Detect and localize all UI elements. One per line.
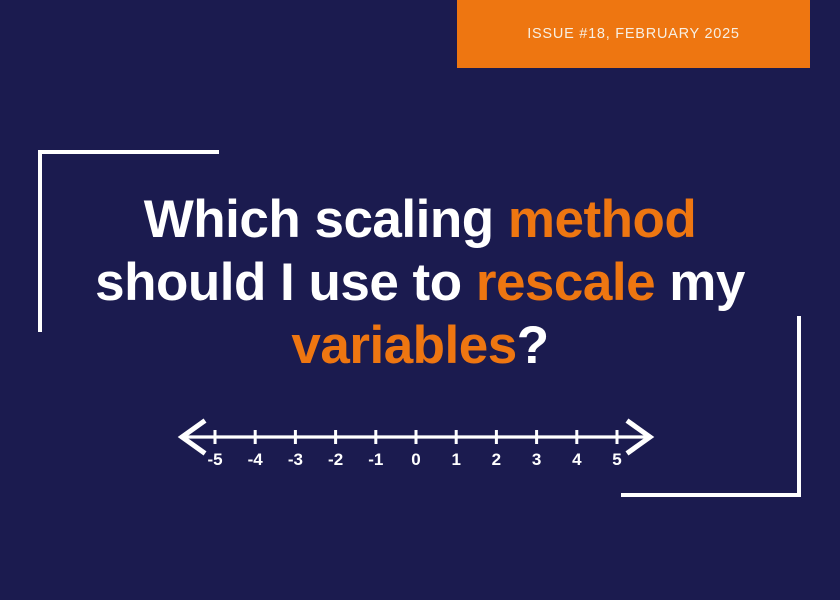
number-line-tick-label: 0 <box>411 450 420 469</box>
top-left-bracket-horizontal <box>38 150 219 154</box>
number-line-tick-label: -1 <box>368 450 383 469</box>
headline-line-2: should I use to rescale my <box>0 251 840 314</box>
headline-segment: Which scaling <box>144 190 508 249</box>
headline-segment-accent: method <box>508 190 696 249</box>
bottom-right-bracket-horizontal <box>621 493 801 497</box>
headline-segment-accent: variables <box>291 316 516 375</box>
headline-segment: ? <box>517 316 549 375</box>
number-line-tick-label: -4 <box>248 450 264 469</box>
number-line-tick-label: -2 <box>328 450 343 469</box>
headline-segment-accent: rescale <box>476 253 655 312</box>
headline-line-3: variables? <box>0 314 840 377</box>
number-line-tick-label: 2 <box>492 450 501 469</box>
number-line-graphic: -5-4-3-2-1012345 <box>170 414 660 476</box>
issue-banner-label: ISSUE #18, FEBRUARY 2025 <box>527 26 740 42</box>
headline-segment: my <box>655 253 745 312</box>
number-line-svg: -5-4-3-2-1012345 <box>170 414 660 476</box>
number-line-tick-label: -3 <box>288 450 303 469</box>
number-line-tick-label: 4 <box>572 450 582 469</box>
number-line-tick-labels: -5-4-3-2-1012345 <box>207 450 621 469</box>
number-line-tick-label: -5 <box>207 450 222 469</box>
headline: Which scaling method should I use to res… <box>0 188 840 377</box>
number-line-tick-label: 3 <box>532 450 541 469</box>
poster-canvas: ISSUE #18, FEBRUARY 2025 Which scaling m… <box>0 0 840 600</box>
issue-banner: ISSUE #18, FEBRUARY 2025 <box>457 0 810 68</box>
number-line-tick-label: 5 <box>612 450 621 469</box>
headline-segment: should I use to <box>95 253 476 312</box>
number-line-tick-label: 1 <box>451 450 460 469</box>
headline-line-1: Which scaling method <box>0 188 840 251</box>
